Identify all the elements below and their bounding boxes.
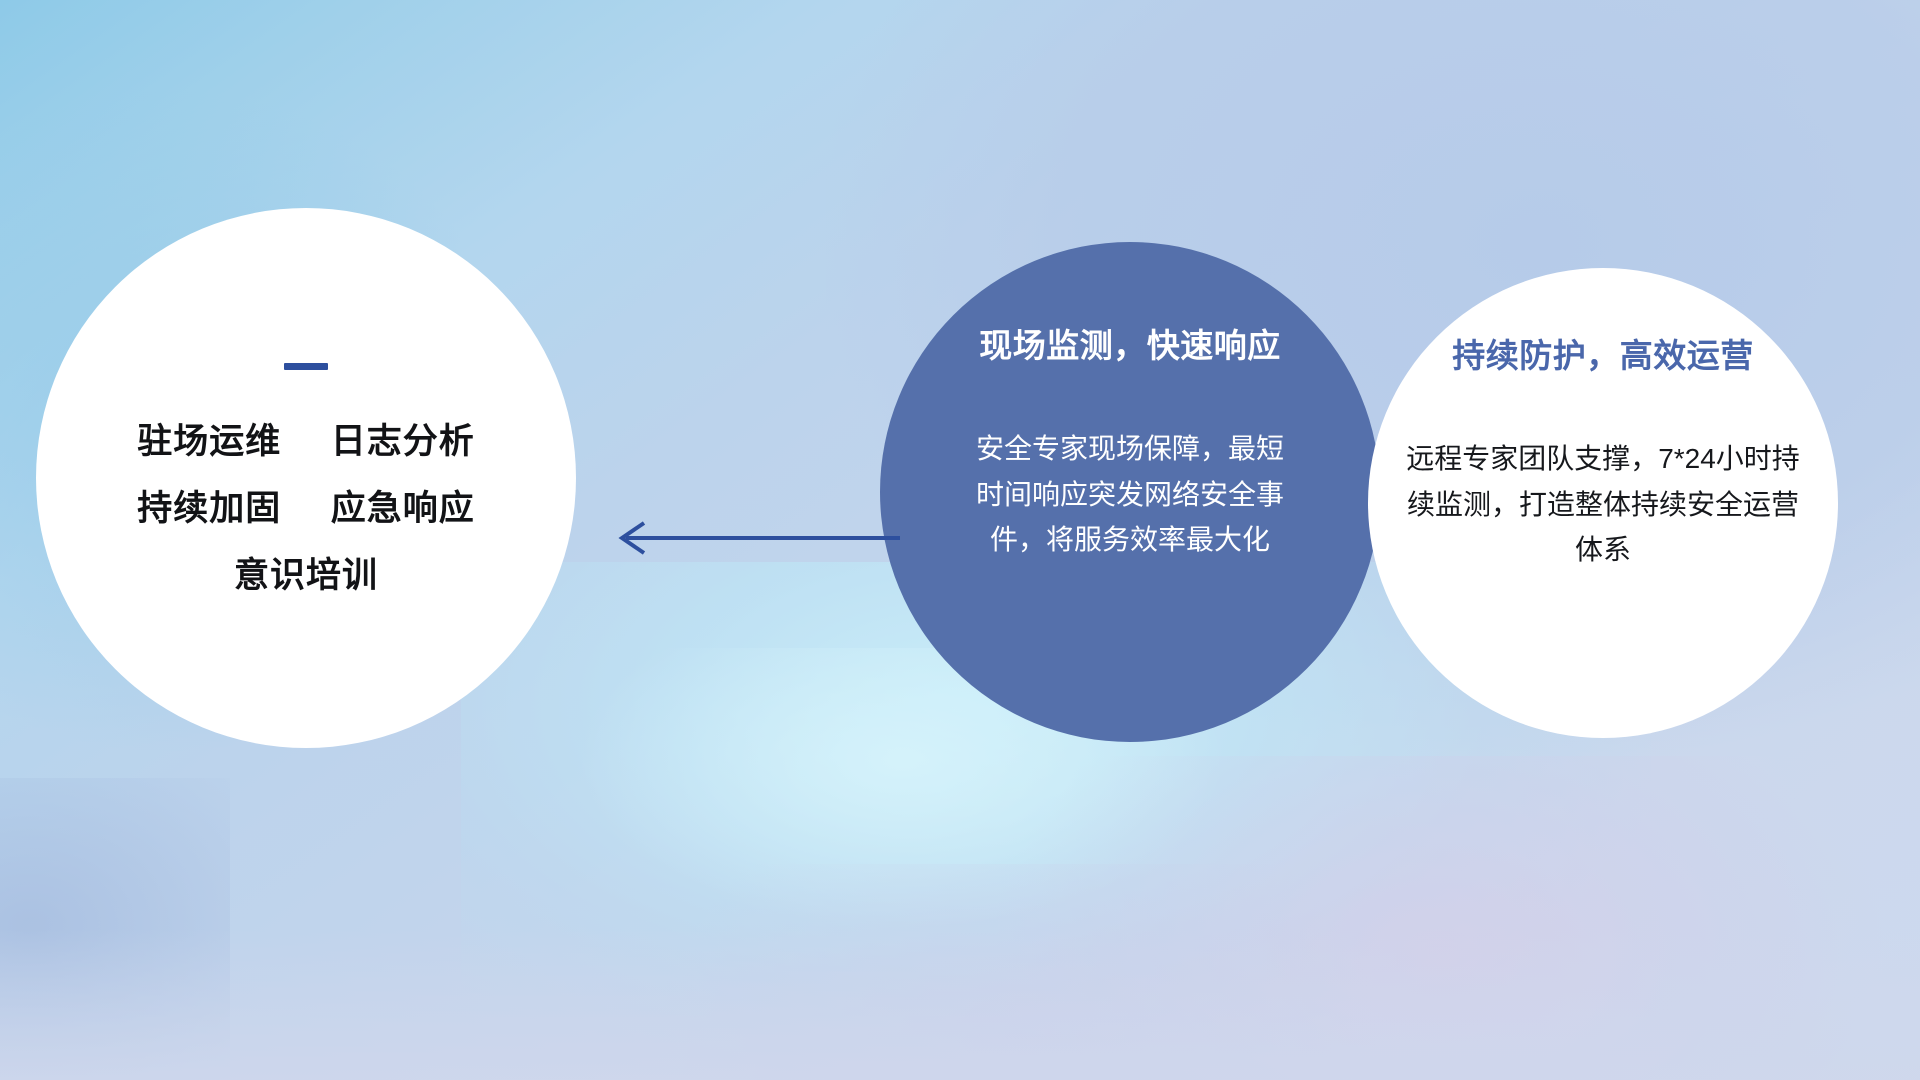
- capability-item-emergency-response: 应急响应: [331, 489, 475, 528]
- onsite-monitoring-body: 安全专家现场保障，最短时间响应突发网络安全事件，将服务效率最大化: [975, 426, 1285, 562]
- continuous-protection-circle: 持续防护，高效运营 远程专家团队支撑，7*24小时持续监测，打造整体持续安全运营…: [1368, 268, 1838, 738]
- capability-item-continuous-hardening: 持续加固: [137, 489, 281, 528]
- continuous-protection-body: 远程专家团队支撑，7*24小时持续监测，打造整体持续安全运营体系: [1403, 436, 1803, 572]
- capability-row-1: 驻场运维 日志分析: [137, 424, 475, 459]
- onsite-monitoring-circle: 现场监测，快速响应 安全专家现场保障，最短时间响应突发网络安全事件，将服务效率最…: [880, 242, 1380, 742]
- continuous-protection-heading: 持续防护，高效运营: [1452, 338, 1754, 374]
- capability-row-3: 意识培训: [234, 558, 378, 593]
- continuous-protection-content: 持续防护，高效运营 远程专家团队支撑，7*24小时持续监测，打造整体持续安全运营…: [1368, 268, 1838, 738]
- onsite-monitoring-content: 现场监测，快速响应 安全专家现场保障，最短时间响应突发网络安全事件，将服务效率最…: [880, 242, 1380, 742]
- capability-item-awareness-training: 意识培训: [234, 556, 378, 595]
- leftward-flow-arrow: [600, 515, 900, 561]
- onsite-monitoring-heading: 现场监测，快速响应: [979, 328, 1281, 364]
- capability-row-2: 持续加固 应急响应: [137, 491, 475, 526]
- capability-item-log-analysis: 日志分析: [331, 422, 475, 461]
- capability-circle-left: 驻场运维 日志分析 持续加固 应急响应 意识培训: [36, 208, 576, 748]
- capability-list: 驻场运维 日志分析 持续加固 应急响应 意识培训: [36, 208, 576, 748]
- capability-item-onsite-ops: 驻场运维: [137, 422, 281, 461]
- arrow-icon: [600, 515, 900, 561]
- background-bottom-band: [0, 929, 1920, 1080]
- divider-dash: [284, 363, 328, 370]
